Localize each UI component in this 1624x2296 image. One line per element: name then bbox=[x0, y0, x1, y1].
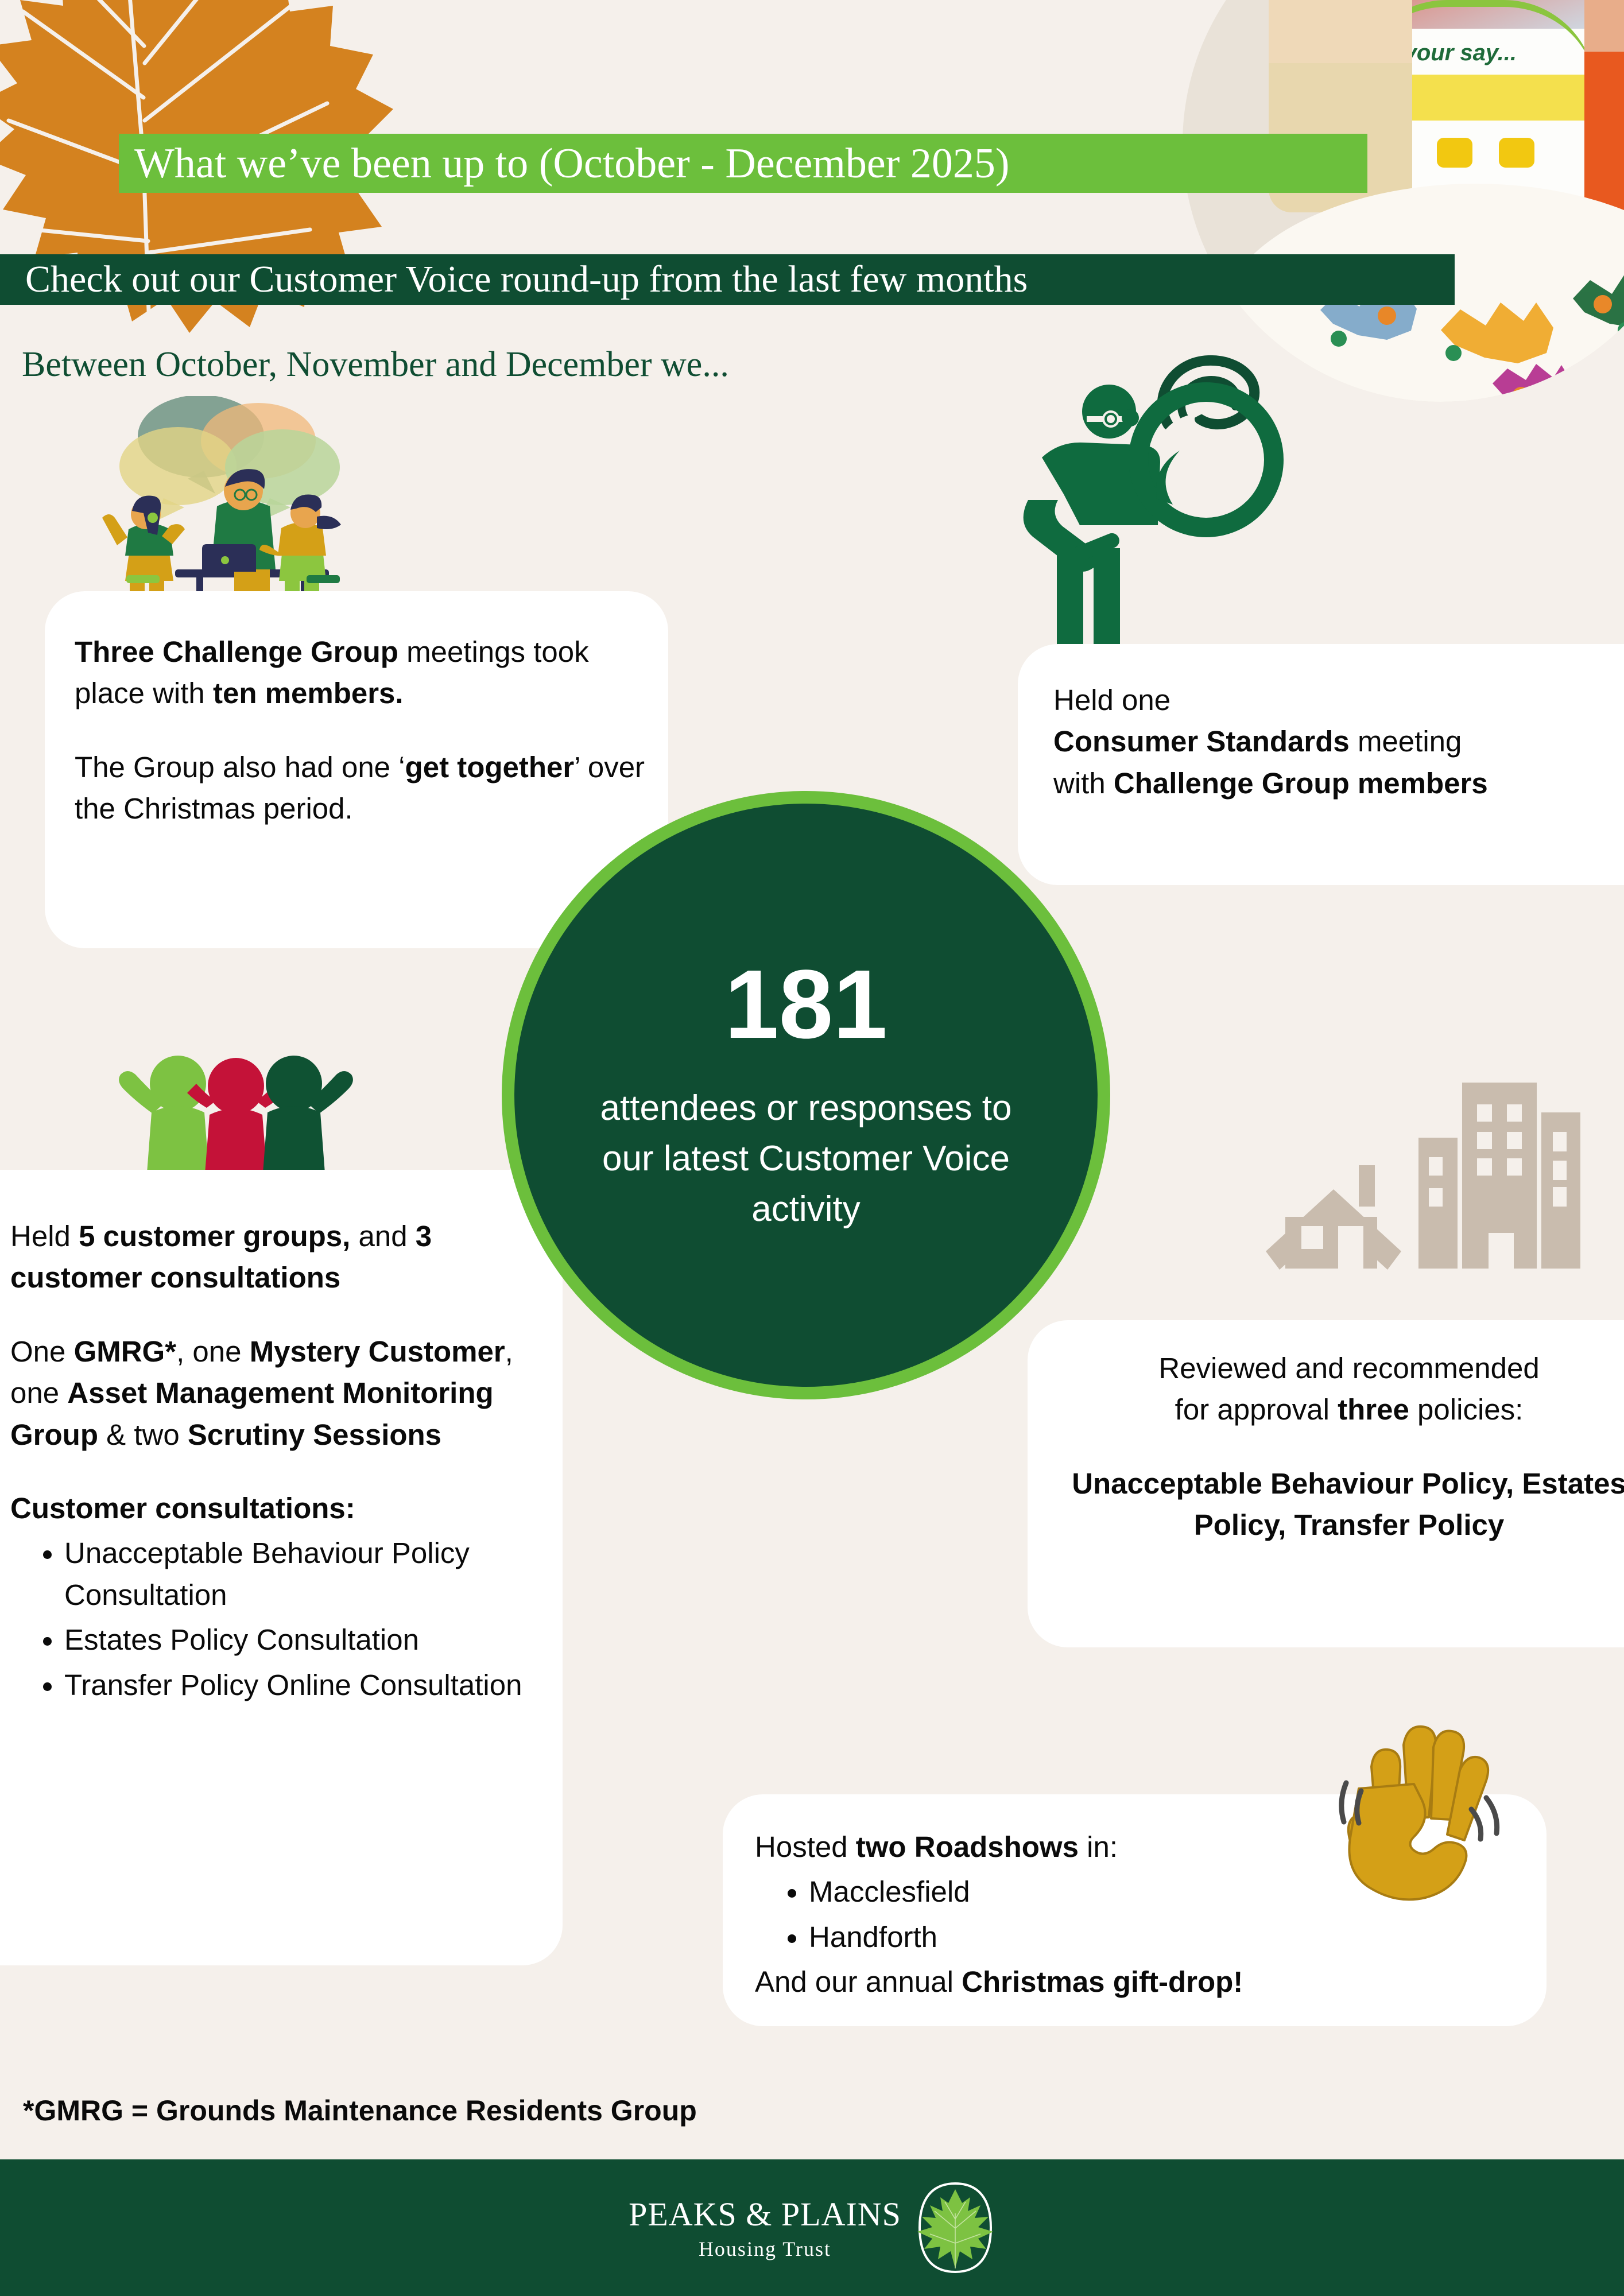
list-item: Estates Policy Consultation bbox=[64, 1619, 544, 1661]
roadshow-locations: Macclesfield Handforth bbox=[787, 1871, 1415, 1958]
footnote-gmrg: *GMRG = Grounds Maintenance Residents Gr… bbox=[23, 2094, 697, 2127]
envelope-icon bbox=[1437, 138, 1472, 168]
list-item: Unacceptable Behaviour Policy Consultati… bbox=[64, 1533, 544, 1616]
page-title: What we’ve been up to (October - Decembe… bbox=[119, 142, 1010, 185]
stat-caption: attendees or responses to our latest Cus… bbox=[571, 1083, 1041, 1235]
infographic-page: ve your say... bbox=[0, 0, 1624, 2296]
consumer-line-2: Consumer Standards meeting bbox=[1053, 721, 1604, 762]
list-item: Handforth bbox=[809, 1917, 1415, 1958]
groups-para-2: One GMRG*, one Mystery Customer, one Ass… bbox=[10, 1331, 544, 1456]
card-challenge-group: Three Challenge Group meetings took plac… bbox=[45, 591, 668, 948]
card-policies-text: Reviewed and recommended for approval th… bbox=[1062, 1348, 1624, 1546]
peaks-plains-logo: PEAKS & PLAINS Housing Trust bbox=[629, 2179, 995, 2276]
footer-bar: PEAKS & PLAINS Housing Trust bbox=[0, 2159, 1624, 2296]
list-item: Transfer Policy Online Consultation bbox=[64, 1665, 544, 1706]
magnifying-glass-person-icon bbox=[1009, 359, 1296, 646]
consumer-line-3: with Challenge Group members bbox=[1053, 763, 1604, 804]
buildings-houses-icon bbox=[1237, 1050, 1582, 1291]
chat-icon bbox=[1499, 138, 1534, 168]
waving-hand-icon bbox=[1323, 1722, 1518, 1911]
card-customer-groups-text: Held 5 customer groups, and 3 customer c… bbox=[10, 1216, 544, 1709]
challenge-para-1: Three Challenge Group meetings took plac… bbox=[75, 631, 654, 715]
consumer-line-1: Held one bbox=[1053, 680, 1604, 721]
logo-sub-text: Housing Trust bbox=[629, 2237, 901, 2261]
stat-circle: 181 attendees or responses to our latest… bbox=[502, 791, 1110, 1399]
policies-list: Unacceptable Behaviour Policy, Estates P… bbox=[1062, 1463, 1624, 1546]
stat-number: 181 bbox=[724, 956, 887, 1053]
roadshow-photo: ve your say... bbox=[1183, 0, 1624, 402]
page-subtitle: Check out our Customer Voice round-up fr… bbox=[0, 261, 1028, 298]
challenge-para-2: The Group also had one ‘get together’ ov… bbox=[75, 747, 654, 830]
card-consumer-standards: Held one Consumer Standards meeting with… bbox=[1018, 644, 1624, 885]
card-consumer-text: Held one Consumer Standards meeting with… bbox=[1053, 680, 1604, 804]
person-green-dark bbox=[262, 1056, 353, 1188]
consultations-heading: Customer consultations: bbox=[10, 1488, 544, 1529]
logo-main-text: PEAKS & PLAINS bbox=[629, 2195, 901, 2233]
consultations-list: Unacceptable Behaviour Policy Consultati… bbox=[42, 1533, 544, 1706]
card-challenge-text: Three Challenge Group meetings took plac… bbox=[75, 631, 654, 830]
three-people-icon bbox=[103, 1045, 362, 1188]
card-customer-groups: Held 5 customer groups, and 3 customer c… bbox=[0, 1170, 563, 1965]
maple-leaf-logo-icon bbox=[915, 2179, 995, 2276]
person-green-light bbox=[119, 1056, 210, 1188]
page-title-bar: What we’ve been up to (October - Decembe… bbox=[119, 134, 1367, 193]
policies-line-2: for approval three policies: bbox=[1062, 1389, 1624, 1430]
card-policies-reviewed: Reviewed and recommended for approval th… bbox=[1028, 1320, 1624, 1647]
page-subtitle-bar: Check out our Customer Voice round-up fr… bbox=[0, 254, 1455, 305]
policies-line-1: Reviewed and recommended bbox=[1062, 1348, 1624, 1389]
roadshow-line-1: Hosted two Roadshows in: bbox=[755, 1826, 1415, 1868]
card-roadshows-text: Hosted two Roadshows in: Macclesfield Ha… bbox=[755, 1826, 1415, 2003]
intro-line: Between October, November and December w… bbox=[22, 344, 729, 385]
roadshow-closing: And our annual Christmas gift-drop! bbox=[755, 1961, 1415, 2003]
groups-para-1: Held 5 customer groups, and 3 customer c… bbox=[10, 1216, 544, 1299]
